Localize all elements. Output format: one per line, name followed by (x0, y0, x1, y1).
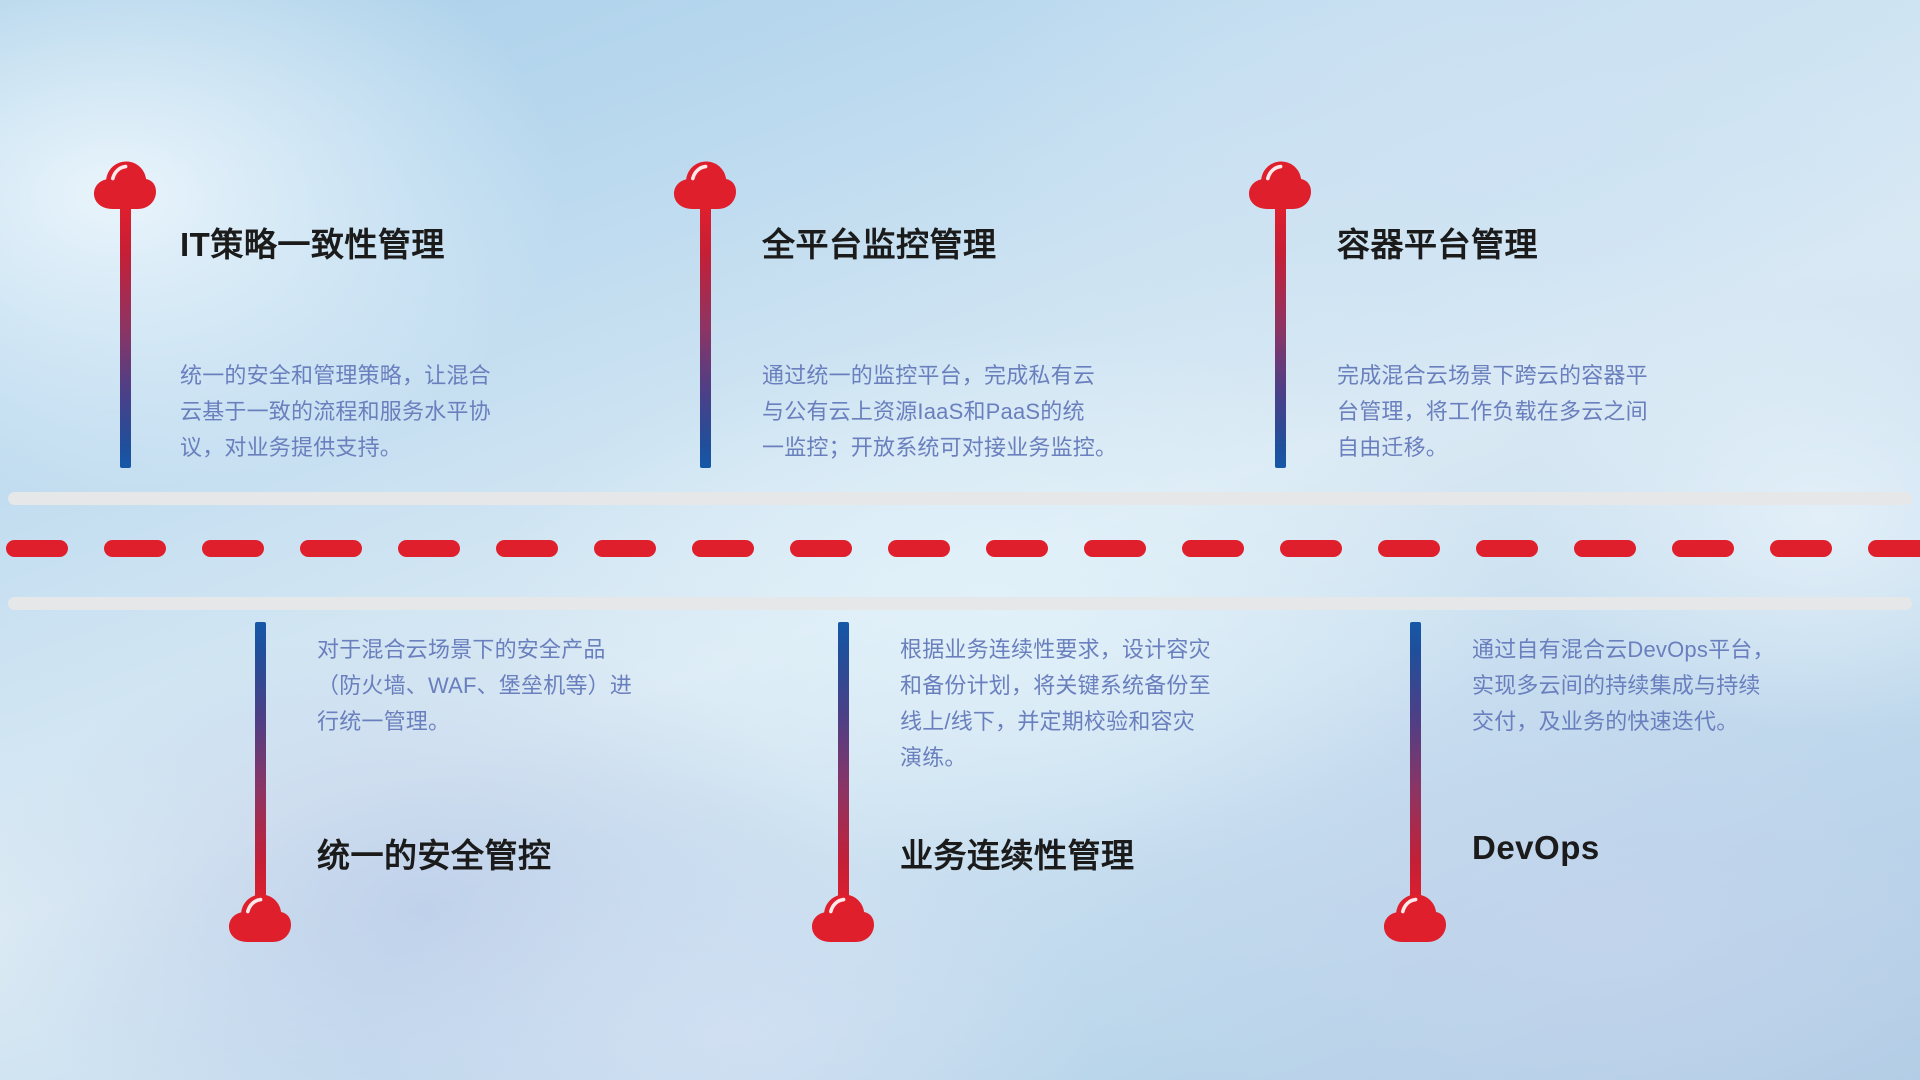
divider-dash (1574, 540, 1636, 557)
card-title: 全平台监控管理 (762, 218, 997, 266)
divider-dash (300, 540, 362, 557)
divider-dash (692, 540, 754, 557)
card-body: 根据业务连续性要求，设计容灾 和备份计划，将关键系统备份至 线上/线下，并定期校… (900, 632, 1211, 776)
divider-rail-bottom (8, 597, 1912, 610)
card-body-line: 对于混合云场景下的安全产品 (317, 632, 632, 668)
card-body-line: 演练。 (900, 740, 1211, 776)
divider-dash (1378, 540, 1440, 557)
divider-dash (594, 540, 656, 557)
divider-dash (790, 540, 852, 557)
card-body-line: （防火墙、WAF、堡垒机等）进 (317, 668, 632, 704)
divider-dash (1672, 540, 1734, 557)
card-body-line: 根据业务连续性要求，设计容灾 (900, 632, 1211, 668)
card-body-line: 与公有云上资源IaaS和PaaS的统 (762, 394, 1117, 430)
card-body-line: 完成混合云场景下跨云的容器平 (1337, 358, 1648, 394)
cloud-icon (92, 160, 158, 210)
divider-dash (1280, 540, 1342, 557)
card-body-line: 一监控；开放系统可对接业务监控。 (762, 430, 1117, 466)
stem-bar (255, 622, 266, 906)
card-body: 对于混合云场景下的安全产品 （防火墙、WAF、堡垒机等）进 行统一管理。 (317, 632, 632, 740)
divider-dash (1182, 540, 1244, 557)
card-body: 完成混合云场景下跨云的容器平 台管理，将工作负载在多云之间 自由迁移。 (1337, 358, 1648, 466)
divider-dash (104, 540, 166, 557)
divider-dash (1770, 540, 1832, 557)
card-title: 容器平台管理 (1337, 218, 1538, 266)
card-title: 业务连续性管理 (900, 829, 1135, 877)
divider-dash (986, 540, 1048, 557)
stem-bar (1275, 206, 1286, 468)
stem-bar (700, 206, 711, 468)
card-body-line: 实现多云间的持续集成与持续 (1472, 668, 1775, 704)
card-body-line: 台管理，将工作负载在多云之间 (1337, 394, 1648, 430)
card-body-line: 云基于一致的流程和服务水平协 (180, 394, 491, 430)
infographic-canvas: IT策略一致性管理 统一的安全和管理策略，让混合 云基于一致的流程和服务水平协 … (0, 0, 1920, 1080)
divider-dash (1084, 540, 1146, 557)
stem-bar (1410, 622, 1421, 906)
card-body-line: 议，对业务提供支持。 (180, 430, 491, 466)
stem-bar (120, 206, 131, 468)
card-body-line: 线上/线下，并定期校验和容灾 (900, 704, 1211, 740)
card-body: 统一的安全和管理策略，让混合 云基于一致的流程和服务水平协 议，对业务提供支持。 (180, 358, 491, 466)
card-body-line: 通过自有混合云DevOps平台， (1472, 632, 1775, 668)
card-body: 通过统一的监控平台，完成私有云 与公有云上资源IaaS和PaaS的统 一监控；开… (762, 358, 1117, 466)
card-body-line: 统一的安全和管理策略，让混合 (180, 358, 491, 394)
divider-dash (202, 540, 264, 557)
card-title: IT策略一致性管理 (180, 218, 445, 266)
divider-dash (496, 540, 558, 557)
cloud-icon (227, 893, 293, 943)
cloud-icon (672, 160, 738, 210)
divider-dash (1476, 540, 1538, 557)
stem-bar (838, 622, 849, 906)
card-title: 统一的安全管控 (317, 829, 552, 877)
card-body-line: 自由迁移。 (1337, 430, 1648, 466)
divider-rail-top (8, 492, 1912, 505)
cloud-icon (810, 893, 876, 943)
card-body-line: 通过统一的监控平台，完成私有云 (762, 358, 1117, 394)
card-title: DevOps (1472, 829, 1600, 867)
cloud-icon (1382, 893, 1448, 943)
divider-dash (888, 540, 950, 557)
card-body-line: 和备份计划，将关键系统备份至 (900, 668, 1211, 704)
card-body-line: 交付，及业务的快速迭代。 (1472, 704, 1775, 740)
divider-dash (6, 540, 68, 557)
divider-dash (398, 540, 460, 557)
card-body: 通过自有混合云DevOps平台， 实现多云间的持续集成与持续 交付，及业务的快速… (1472, 632, 1775, 740)
cloud-icon (1247, 160, 1313, 210)
divider-dash (1868, 540, 1920, 557)
card-body-line: 行统一管理。 (317, 704, 632, 740)
divider-dashed-line (0, 539, 1920, 557)
